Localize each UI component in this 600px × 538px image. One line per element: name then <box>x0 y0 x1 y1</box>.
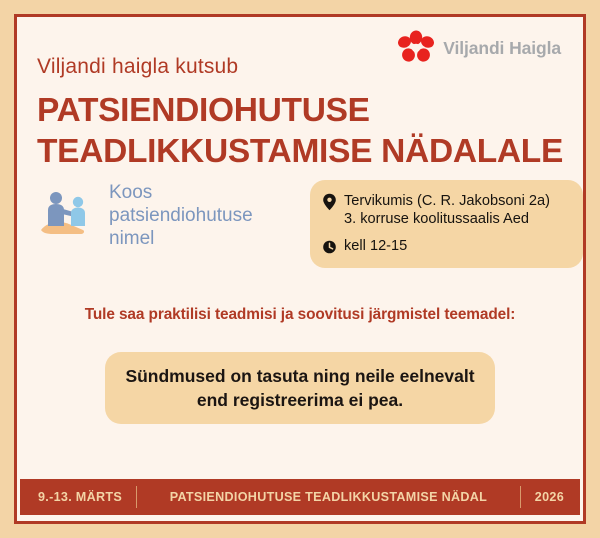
info-location-text: Tervikumis (C. R. Jakobsoni 2a) 3. korru… <box>344 192 550 228</box>
info-time-text: kell 12-15 <box>344 237 407 255</box>
info-time-line-1: kell 12-15 <box>344 237 407 255</box>
campaign-label-line-3: nimel <box>109 227 253 250</box>
notice-card: Sündmused on tasuta ning neile eelnevalt… <box>105 352 495 424</box>
footer-bar: 9.-13. MÄRTS PATSIENDIOHUTUSE TEADLIKKUS… <box>20 479 580 515</box>
event-info-card: Tervikumis (C. R. Jakobsoni 2a) 3. korru… <box>310 180 583 268</box>
poster-content: Viljandi Haigla Viljandi haigla kutsub P… <box>17 17 583 521</box>
hospital-logo-label: Viljandi Haigla <box>443 38 561 59</box>
page-title-line-1: PATSIENDIOHUTUSE <box>37 91 565 132</box>
flower-icon <box>396 29 436 67</box>
location-pin-icon <box>322 193 337 211</box>
campaign-label-line-1: Koos <box>109 181 253 204</box>
poster-canvas: Viljandi Haigla Viljandi haigla kutsub P… <box>0 0 600 538</box>
info-location-line-1: Tervikumis (C. R. Jakobsoni 2a) <box>344 192 550 210</box>
clock-icon <box>322 238 337 256</box>
two-people-on-hand-icon <box>39 186 101 246</box>
footer-campaign-name: PATSIENDIOHUTUSE TEADLIKKUSTAMISE NÄDAL <box>137 490 520 504</box>
page-title-line-2: TEADLIKKUSTAMISE NÄDALALE <box>37 132 565 173</box>
page-title: PATSIENDIOHUTUSE TEADLIKKUSTAMISE NÄDALA… <box>37 91 565 173</box>
footer-year: 2026 <box>521 490 580 504</box>
campaign-label-line-2: patsiendiohutuse <box>109 204 253 227</box>
info-row-time: kell 12-15 <box>322 237 573 256</box>
notice-line-2: end registreerima ei pea. <box>125 388 474 412</box>
info-row-location: Tervikumis (C. R. Jakobsoni 2a) 3. korru… <box>322 192 573 228</box>
prompt-text: Tule saa praktilisi teadmisi ja soovitus… <box>17 306 583 324</box>
info-location-line-2: 3. korruse koolitussaalis Aed <box>344 210 550 228</box>
kicker-text: Viljandi haigla kutsub <box>37 55 238 79</box>
campaign-logo-label: Koos patsiendiohutuse nimel <box>109 181 253 251</box>
hospital-logo: Viljandi Haigla <box>396 29 561 67</box>
campaign-logo: Koos patsiendiohutuse nimel <box>39 181 253 251</box>
footer-date-range: 9.-13. MÄRTS <box>20 490 136 504</box>
notice-line-1: Sündmused on tasuta ning neile eelnevalt <box>125 364 474 388</box>
notice-text: Sündmused on tasuta ning neile eelnevalt… <box>125 364 474 412</box>
